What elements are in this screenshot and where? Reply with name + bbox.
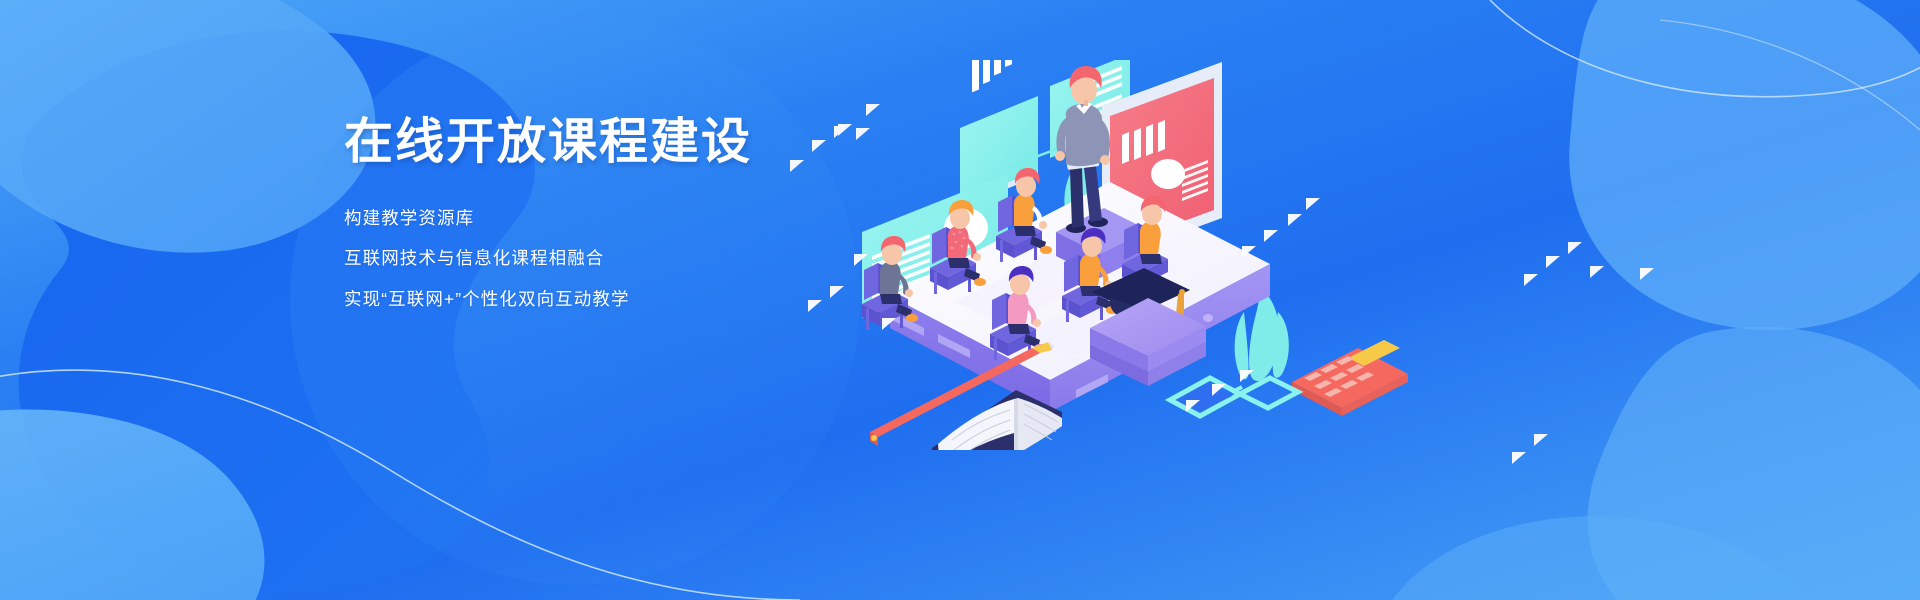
hero-subtitle-3: 实现“互联网+”个性化双向互动教学: [344, 291, 944, 309]
hero-banner: 在线开放课程建设 构建教学资源库 互联网技术与信息化课程相融合 实现“互联网+”…: [0, 0, 1920, 600]
calculator: [1292, 340, 1408, 416]
platform-button: [1203, 314, 1213, 322]
hero-text-block: 在线开放课程建设 构建教学资源库 互联网技术与信息化课程相融合 实现“互联网+”…: [344, 114, 944, 308]
eyeglasses: [1170, 378, 1298, 416]
page-title: 在线开放课程建设: [344, 114, 944, 172]
hero-subtitle-2: 互联网技术与信息化课程相融合: [344, 250, 944, 268]
hero-subtitle-list: 构建教学资源库 互联网技术与信息化课程相融合 实现“互联网+”个性化双向互动教学: [344, 210, 944, 309]
hero-subtitle-1: 构建教学资源库: [344, 210, 944, 228]
